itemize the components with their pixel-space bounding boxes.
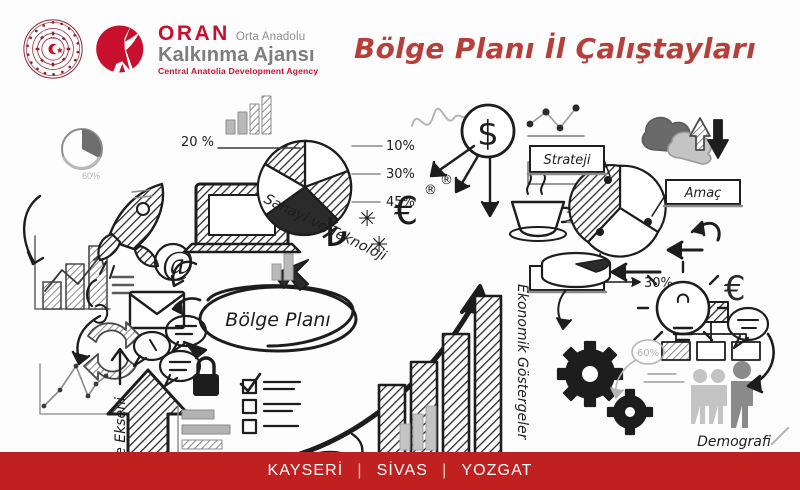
label-strateji: Strateji	[544, 153, 591, 168]
label-amac: Amaç	[684, 186, 722, 201]
lock-icon	[193, 358, 219, 396]
checklist-icon	[241, 374, 300, 433]
label-30-percent: 30%	[386, 167, 415, 182]
city-kayseri: KAYSERİ	[253, 462, 357, 480]
label-20-percent: 20 %	[181, 135, 214, 150]
city-list: KAYSERİ | SİVAS | YOZGAT	[253, 462, 546, 480]
star-symbol: ✳	[370, 233, 388, 258]
svg-text:60%: 60%	[82, 171, 100, 181]
oran-mark-icon	[90, 18, 152, 80]
percentage-bubble: 60%	[632, 340, 664, 364]
euro-symbol: €	[724, 269, 746, 309]
poster-canvas: T.C. ORAN Orta Anadolu Kalkınma Ajansı C…	[0, 0, 800, 490]
horizontal-bars-icon	[178, 406, 230, 452]
oran-logo: T.C. ORAN Orta Anadolu Kalkınma Ajansı C…	[22, 18, 318, 80]
footer-bar: KAYSERİ | SİVAS | YOZGAT	[0, 452, 800, 490]
bar-chart-icon	[226, 96, 271, 134]
label-10-percent: 10%	[386, 139, 415, 154]
euro-symbol: €	[394, 189, 418, 233]
wave-line-icon	[412, 109, 468, 126]
republic-emblem-icon: T.C.	[22, 18, 84, 80]
label-gelisme-ekseni: Gelişme Ekseni	[113, 397, 129, 452]
pie-chart-icon	[569, 165, 665, 256]
brand-subtitle: Orta Anadolu	[236, 32, 306, 44]
star-symbol: ✳	[358, 207, 376, 232]
oran-logo-text: ORAN Orta Anadolu Kalkınma Ajansı Centra…	[158, 23, 318, 76]
agency-name-tr: Kalkınma Ajansı	[158, 45, 318, 65]
label-ekonomik-gostergeler: Ekonomik Göstergeler	[514, 284, 530, 441]
page-title: Bölge Planı İl Çalıştayları	[340, 32, 770, 65]
agency-name-en: Central Anatolia Development Agency	[158, 67, 318, 76]
registered-symbol: ®	[440, 173, 453, 188]
city-sivas: SİVAS	[363, 462, 442, 480]
label-bolge-plani: Bölge Planı	[225, 309, 330, 331]
svg-text:T.C.: T.C.	[50, 36, 56, 40]
rocket-icon	[99, 184, 163, 278]
cloud-sync-icon	[642, 118, 728, 164]
registered-symbol: ®	[424, 183, 437, 198]
label-60-percent: 60%	[637, 348, 659, 359]
refresh-icon	[84, 322, 140, 380]
label-demografi: Demografi	[697, 434, 771, 450]
people-icon	[691, 361, 753, 428]
cylinder-chart-icon	[542, 253, 610, 287]
donut-chart-icon: 60%	[62, 129, 102, 181]
bar-chart-icon	[372, 296, 512, 452]
doodle-illustration: 60%	[0, 84, 800, 452]
dollar-symbol: $	[477, 114, 499, 154]
brand-name: ORAN	[158, 23, 230, 44]
lira-symbol: ₺	[322, 210, 347, 256]
city-yozgat: YOZGAT	[447, 462, 546, 480]
poster-header: T.C. ORAN Orta Anadolu Kalkınma Ajansı C…	[0, 0, 800, 95]
